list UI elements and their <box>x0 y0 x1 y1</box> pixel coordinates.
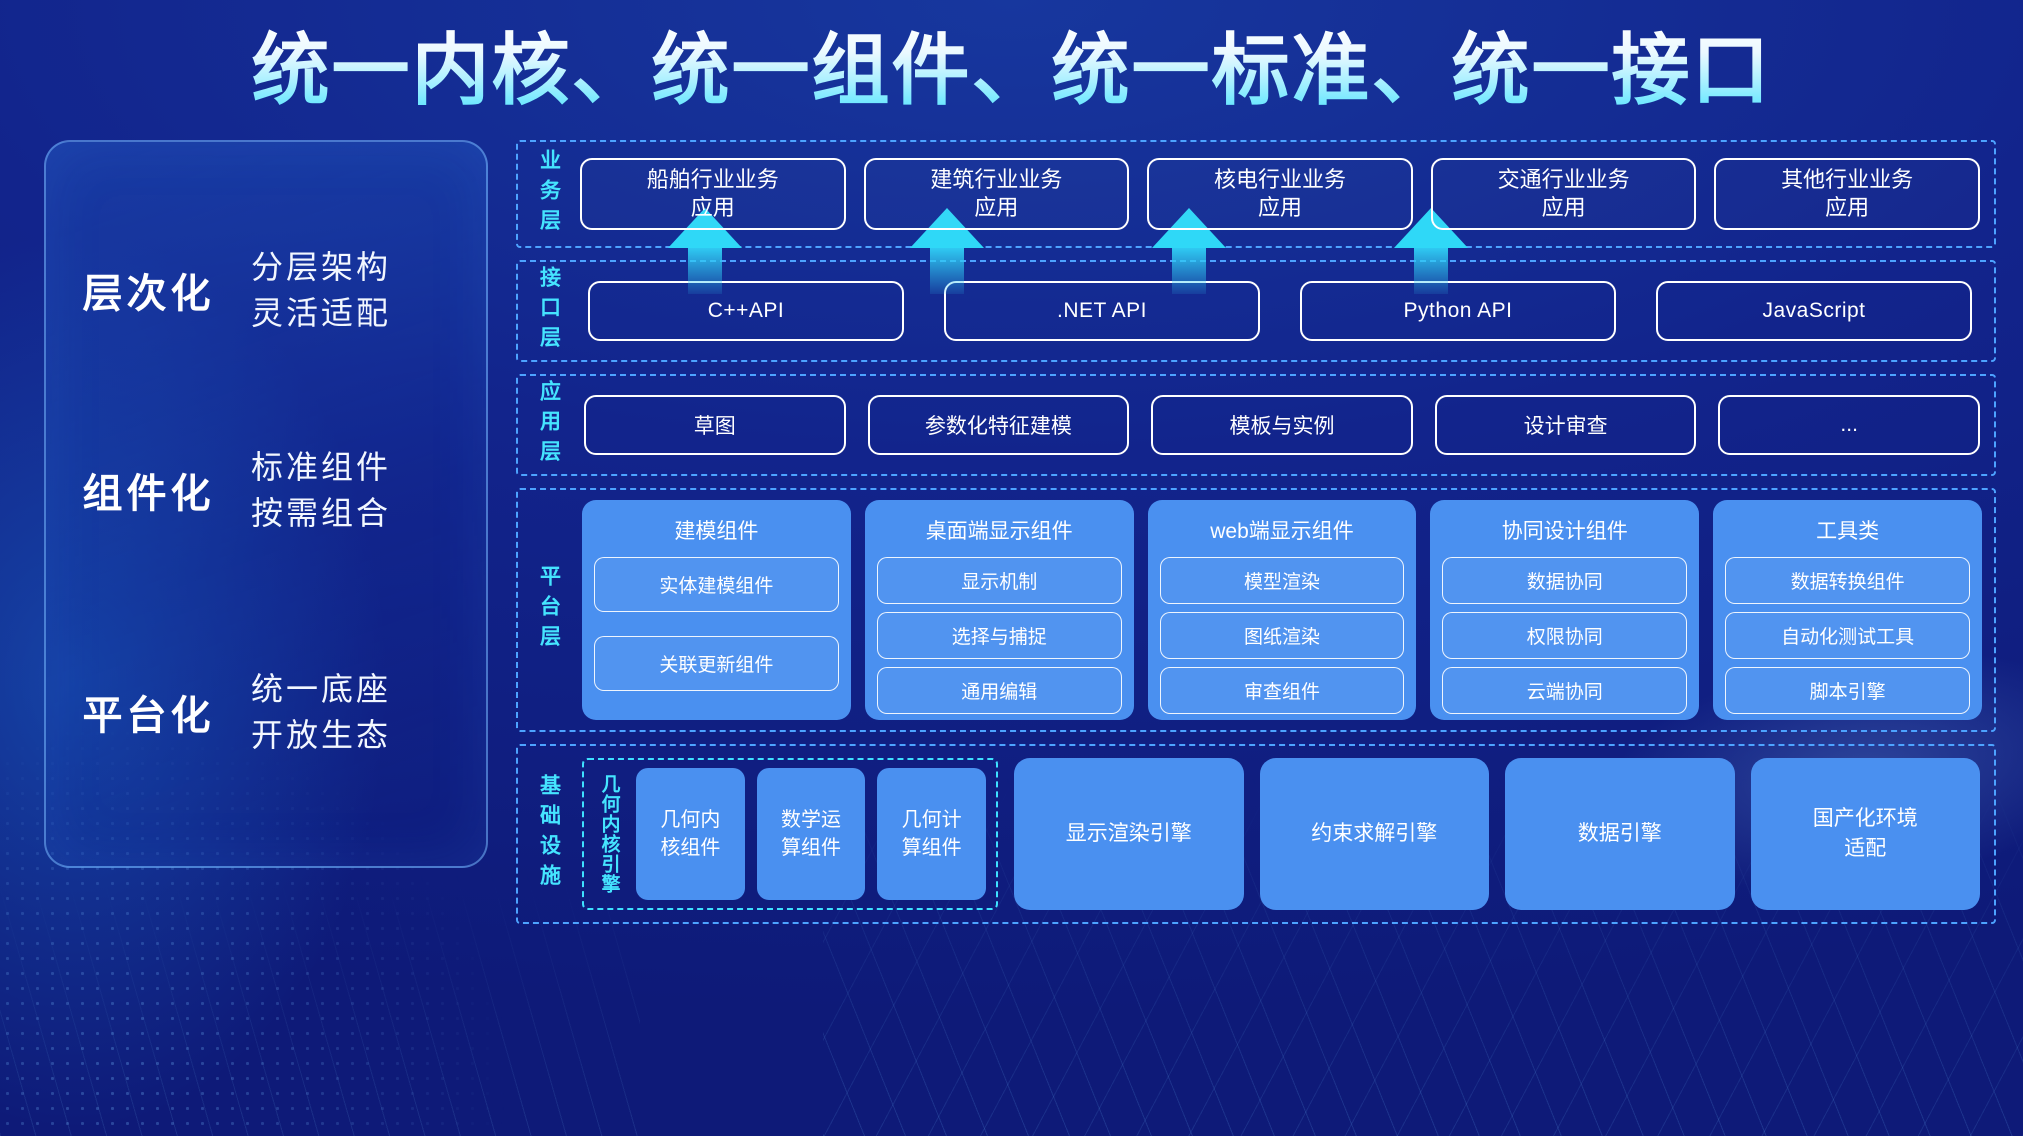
platform-column-0: 建模组件 实体建模组件 关联更新组件 <box>582 500 851 720</box>
application-card-0[interactable]: 草图 <box>584 395 846 455</box>
platform-column-3: 协同设计组件 数据协同 权限协同 云端协同 <box>1430 500 1699 720</box>
application-card-1[interactable]: 参数化特征建模 <box>868 395 1130 455</box>
pillar-desc-1: 标准组件 按需组合 <box>251 444 391 536</box>
platform-column-0-title: 建模组件 <box>594 510 839 549</box>
business-card-2-line2: 应用 <box>1258 194 1302 222</box>
business-card-4-line2: 应用 <box>1825 194 1869 222</box>
platform-item-3-1[interactable]: 权限协同 <box>1442 612 1687 659</box>
business-card-1[interactable]: 建筑行业业务 应用 <box>864 158 1130 230</box>
pillar-item-2: 平台化 统一底座 开放生态 <box>46 652 486 772</box>
architecture-stack: 业务层 船舶行业业务 应用 建筑行业业务 应用 核电行业业务 应用 交通行业业务… <box>516 140 1996 936</box>
platform-item-2-2[interactable]: 审查组件 <box>1160 667 1405 714</box>
page-title: 统一内核、统一组件、统一标准、统一接口 <box>0 22 2023 118</box>
application-card-3[interactable]: 设计审查 <box>1435 395 1697 455</box>
layer-platform-label: 平台层 <box>518 490 580 730</box>
business-card-4-line1: 其他行业业务 <box>1781 166 1913 194</box>
pillars-panel: 层次化 分层架构 灵活适配 组件化 标准组件 按需组合 平台化 统一底座 开放生… <box>44 140 488 868</box>
business-card-3-line2: 应用 <box>1542 194 1586 222</box>
application-card-4[interactable]: ... <box>1718 395 1980 455</box>
infrastructure-card-1[interactable]: 约束求解引擎 <box>1260 758 1490 910</box>
platform-column-3-title: 协同设计组件 <box>1442 510 1687 549</box>
pillar-key-2: 平台化 <box>46 683 251 741</box>
kernel-engine-group: 几何内核引擎 几何内 核组件 数学运 算组件 几何计 算组件 <box>582 758 998 910</box>
platform-item-3-0[interactable]: 数据协同 <box>1442 557 1687 604</box>
business-card-3-line1: 交通行业业务 <box>1498 166 1630 194</box>
layer-infrastructure-label: 基础设施 <box>518 746 580 922</box>
platform-column-2: web端显示组件 模型渲染 图纸渲染 审查组件 <box>1148 500 1417 720</box>
platform-item-4-1[interactable]: 自动化测试工具 <box>1725 612 1970 659</box>
business-card-1-line2: 应用 <box>974 194 1018 222</box>
application-card-2[interactable]: 模板与实例 <box>1151 395 1413 455</box>
layer-application: 应用层 草图 参数化特征建模 模板与实例 设计审查 ... <box>516 374 1996 476</box>
platform-item-0-1[interactable]: 关联更新组件 <box>594 636 839 691</box>
platform-column-0-spacer <box>594 620 839 628</box>
platform-column-1-title: 桌面端显示组件 <box>877 510 1122 549</box>
platform-column-1: 桌面端显示组件 显示机制 选择与捕捉 通用编辑 <box>865 500 1134 720</box>
platform-item-4-0[interactable]: 数据转换组件 <box>1725 557 1970 604</box>
kernel-engine-label: 几何内核引擎 <box>594 768 624 900</box>
platform-column-2-title: web端显示组件 <box>1160 510 1405 549</box>
platform-column-4: 工具类 数据转换组件 自动化测试工具 脚本引擎 <box>1713 500 1982 720</box>
infrastructure-card-0[interactable]: 显示渲染引擎 <box>1014 758 1244 910</box>
pillar-desc-2: 统一底座 开放生态 <box>251 666 391 758</box>
platform-item-2-0[interactable]: 模型渲染 <box>1160 557 1405 604</box>
layer-business-label: 业务层 <box>518 142 580 246</box>
platform-item-1-0[interactable]: 显示机制 <box>877 557 1122 604</box>
business-card-3[interactable]: 交通行业业务 应用 <box>1431 158 1697 230</box>
platform-item-3-2[interactable]: 云端协同 <box>1442 667 1687 714</box>
layer-infrastructure: 基础设施 几何内核引擎 几何内 核组件 数学运 算组件 几何计 算组件 显示渲染… <box>516 744 1996 924</box>
platform-item-4-2[interactable]: 脚本引擎 <box>1725 667 1970 714</box>
kernel-card-2[interactable]: 几何计 算组件 <box>877 768 986 900</box>
business-card-2[interactable]: 核电行业业务 应用 <box>1147 158 1413 230</box>
kernel-card-1[interactable]: 数学运 算组件 <box>757 768 866 900</box>
platform-column-4-title: 工具类 <box>1725 510 1970 549</box>
platform-item-1-1[interactable]: 选择与捕捉 <box>877 612 1122 659</box>
infrastructure-card-2[interactable]: 数据引擎 <box>1505 758 1735 910</box>
business-card-0[interactable]: 船舶行业业务 应用 <box>580 158 846 230</box>
layer-platform: 平台层 建模组件 实体建模组件 关联更新组件 桌面端显示组件 显示机制 选择与捕… <box>516 488 1996 732</box>
business-card-2-line1: 核电行业业务 <box>1214 166 1346 194</box>
business-card-1-line1: 建筑行业业务 <box>930 166 1062 194</box>
interface-card-3[interactable]: JavaScript <box>1656 281 1972 341</box>
business-card-4[interactable]: 其他行业业务 应用 <box>1714 158 1980 230</box>
business-card-0-line2: 应用 <box>691 194 735 222</box>
pillar-item-1: 组件化 标准组件 按需组合 <box>46 430 486 550</box>
layer-application-label: 应用层 <box>518 376 580 474</box>
pillar-key-0: 层次化 <box>46 261 251 319</box>
pillar-key-1: 组件化 <box>46 461 251 519</box>
platform-item-2-1[interactable]: 图纸渲染 <box>1160 612 1405 659</box>
infrastructure-card-3[interactable]: 国产化环境 适配 <box>1751 758 1981 910</box>
platform-item-0-0[interactable]: 实体建模组件 <box>594 557 839 612</box>
business-card-0-line1: 船舶行业业务 <box>647 166 779 194</box>
pillar-item-0: 层次化 分层架构 灵活适配 <box>46 230 486 350</box>
pillar-desc-0: 分层架构 灵活适配 <box>251 244 391 336</box>
platform-item-1-2[interactable]: 通用编辑 <box>877 667 1122 714</box>
interface-card-0[interactable]: C++API <box>588 281 904 341</box>
layer-interface-label: 接口层 <box>518 262 580 360</box>
kernel-card-0[interactable]: 几何内 核组件 <box>636 768 745 900</box>
